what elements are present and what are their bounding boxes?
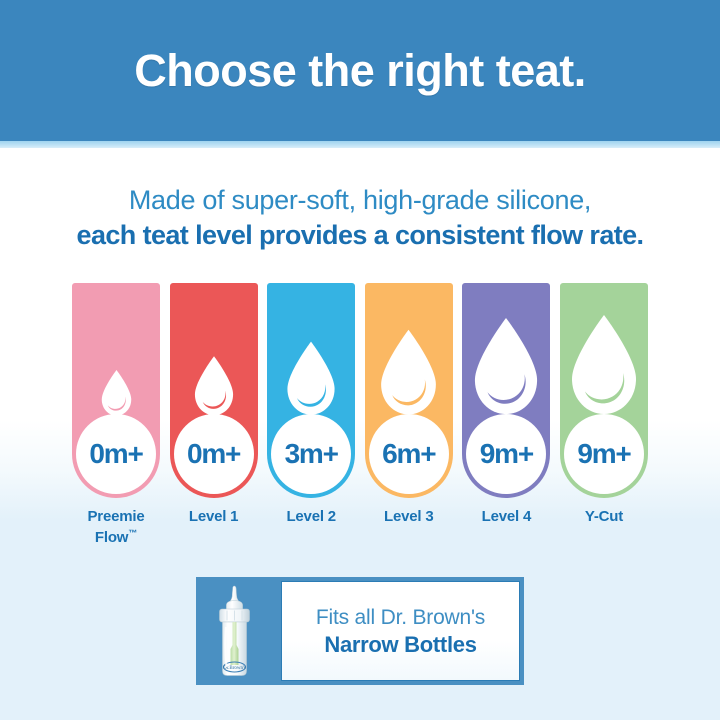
- fits-all-text-panel: Fits all Dr. Brown's Narrow Bottles: [281, 581, 520, 681]
- water-drop-icon: [191, 355, 237, 417]
- age-label: 6m+: [382, 440, 435, 468]
- header-banner: Choose the right teat.: [0, 0, 720, 141]
- age-badge: 0m+: [76, 414, 156, 494]
- water-drop-icon: [566, 313, 642, 417]
- teat-name-label: Level 1: [159, 508, 269, 525]
- age-badge: 9m+: [564, 414, 644, 494]
- age-label: 0m+: [89, 440, 142, 468]
- trademark-symbol: ™: [128, 528, 137, 538]
- page-title: Choose the right teat.: [134, 48, 586, 93]
- teat-name-label: Level 4: [451, 508, 561, 525]
- bottle-image-panel: Dr.Brown's: [197, 578, 275, 684]
- teat-bar: 3m+: [267, 283, 355, 498]
- subtitle-line-2: each teat level provides a consistent fl…: [0, 217, 720, 253]
- teat-column[interactable]: 3m+Level 2: [267, 283, 355, 558]
- water-drop-icon: [283, 340, 339, 417]
- teat-level-row: 0m+PreemieFlow™0m+Level 13m+Level 26m+Le…: [72, 283, 648, 558]
- teat-name-label: PreemieFlow™: [61, 508, 171, 546]
- age-badge: 9m+: [466, 414, 546, 494]
- teat-bar: 9m+: [560, 283, 648, 498]
- teat-column[interactable]: 9m+Level 4: [462, 283, 550, 558]
- teat-bar: 0m+: [72, 283, 160, 498]
- teat-bar: 0m+: [170, 283, 258, 498]
- age-label: 3m+: [285, 440, 338, 468]
- age-label: 0m+: [187, 440, 240, 468]
- fits-all-line-1: Fits all Dr. Brown's: [316, 605, 485, 631]
- age-badge: 0m+: [174, 414, 254, 494]
- age-label: 9m+: [480, 440, 533, 468]
- teat-name-label: Level 2: [256, 508, 366, 525]
- age-badge: 3m+: [271, 414, 351, 494]
- teat-name-line-1: Y-Cut: [585, 508, 623, 525]
- drop-container: [170, 297, 258, 417]
- drop-container: [72, 297, 160, 417]
- header-underline: [0, 141, 720, 148]
- age-label: 9m+: [577, 440, 630, 468]
- subtitle-line-1: Made of super-soft, high-grade silicone,: [0, 183, 720, 217]
- drop-container: [267, 297, 355, 417]
- water-drop-icon: [376, 328, 441, 417]
- age-badge: 6m+: [369, 414, 449, 494]
- teat-bar: 6m+: [365, 283, 453, 498]
- teat-name-line-2: Flow: [95, 529, 128, 546]
- teat-name-line-1: Level 1: [189, 508, 238, 525]
- drop-container: [560, 297, 648, 417]
- teat-column[interactable]: 6m+Level 3: [365, 283, 453, 558]
- water-drop-icon: [99, 369, 134, 417]
- fits-all-line-2: Narrow Bottles: [324, 631, 476, 658]
- water-drop-icon: [469, 316, 543, 417]
- subtitle-block: Made of super-soft, high-grade silicone,…: [0, 183, 720, 253]
- teat-name-label: Y-Cut: [549, 508, 659, 525]
- teat-name-label: Level 3: [354, 508, 464, 525]
- teat-column[interactable]: 0m+Level 1: [170, 283, 258, 558]
- teat-column[interactable]: 9m+Y-Cut: [560, 283, 648, 558]
- infographic-page: Choose the right teat. Made of super-sof…: [0, 0, 720, 720]
- teat-name-line-1: Level 4: [482, 508, 531, 525]
- drop-container: [462, 297, 550, 417]
- teat-name-line-1: Level 3: [384, 508, 433, 525]
- teat-column[interactable]: 0m+PreemieFlow™: [72, 283, 160, 558]
- teat-bar: 9m+: [462, 283, 550, 498]
- teat-name-line-1: Level 2: [286, 508, 335, 525]
- fits-all-callout: Dr.Brown's Fits all Dr. Brown's Narrow B…: [196, 577, 524, 685]
- teat-name-line-1: Preemie: [88, 508, 145, 525]
- drop-container: [365, 297, 453, 417]
- baby-bottle-icon: Dr.Brown's: [210, 583, 262, 679]
